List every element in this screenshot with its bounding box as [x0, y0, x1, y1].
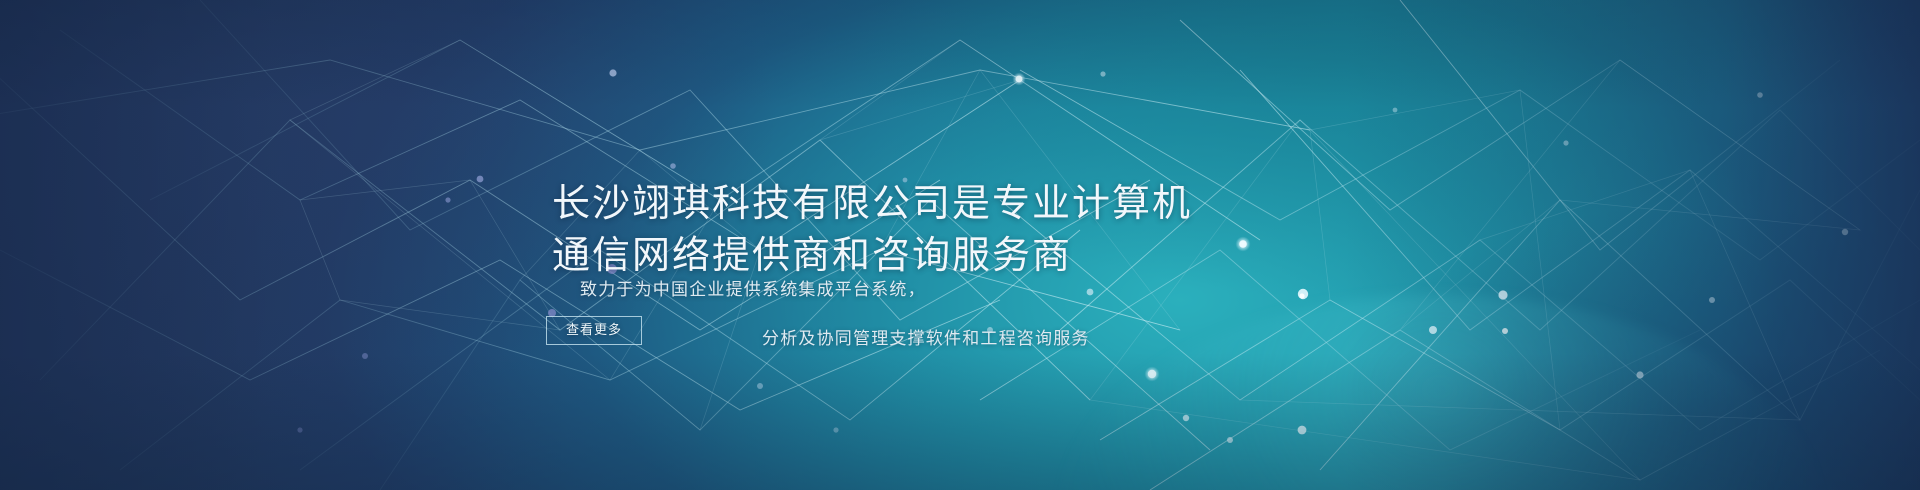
hero-banner: 长沙翊琪科技有限公司是专业计算机 通信网络提供商和咨询服务商 致力于为中国企业提… [0, 0, 1920, 490]
banner-headline: 长沙翊琪科技有限公司是专业计算机 通信网络提供商和咨询服务商 [552, 177, 1192, 281]
headline-line-1: 长沙翊琪科技有限公司是专业计算机 [552, 181, 1192, 225]
banner-subtext-line-1: 致力于为中国企业提供系统集成平台系统， [580, 277, 926, 303]
headline-line-2: 通信网络提供商和咨询服务商 [552, 229, 1192, 281]
banner-content: 长沙翊琪科技有限公司是专业计算机 通信网络提供商和咨询服务商 致力于为中国企业提… [0, 0, 1920, 490]
view-more-button[interactable]: 查看更多 [546, 316, 642, 345]
banner-subtext-line-2: 分析及协同管理支撑软件和工程咨询服务 [762, 326, 1090, 352]
